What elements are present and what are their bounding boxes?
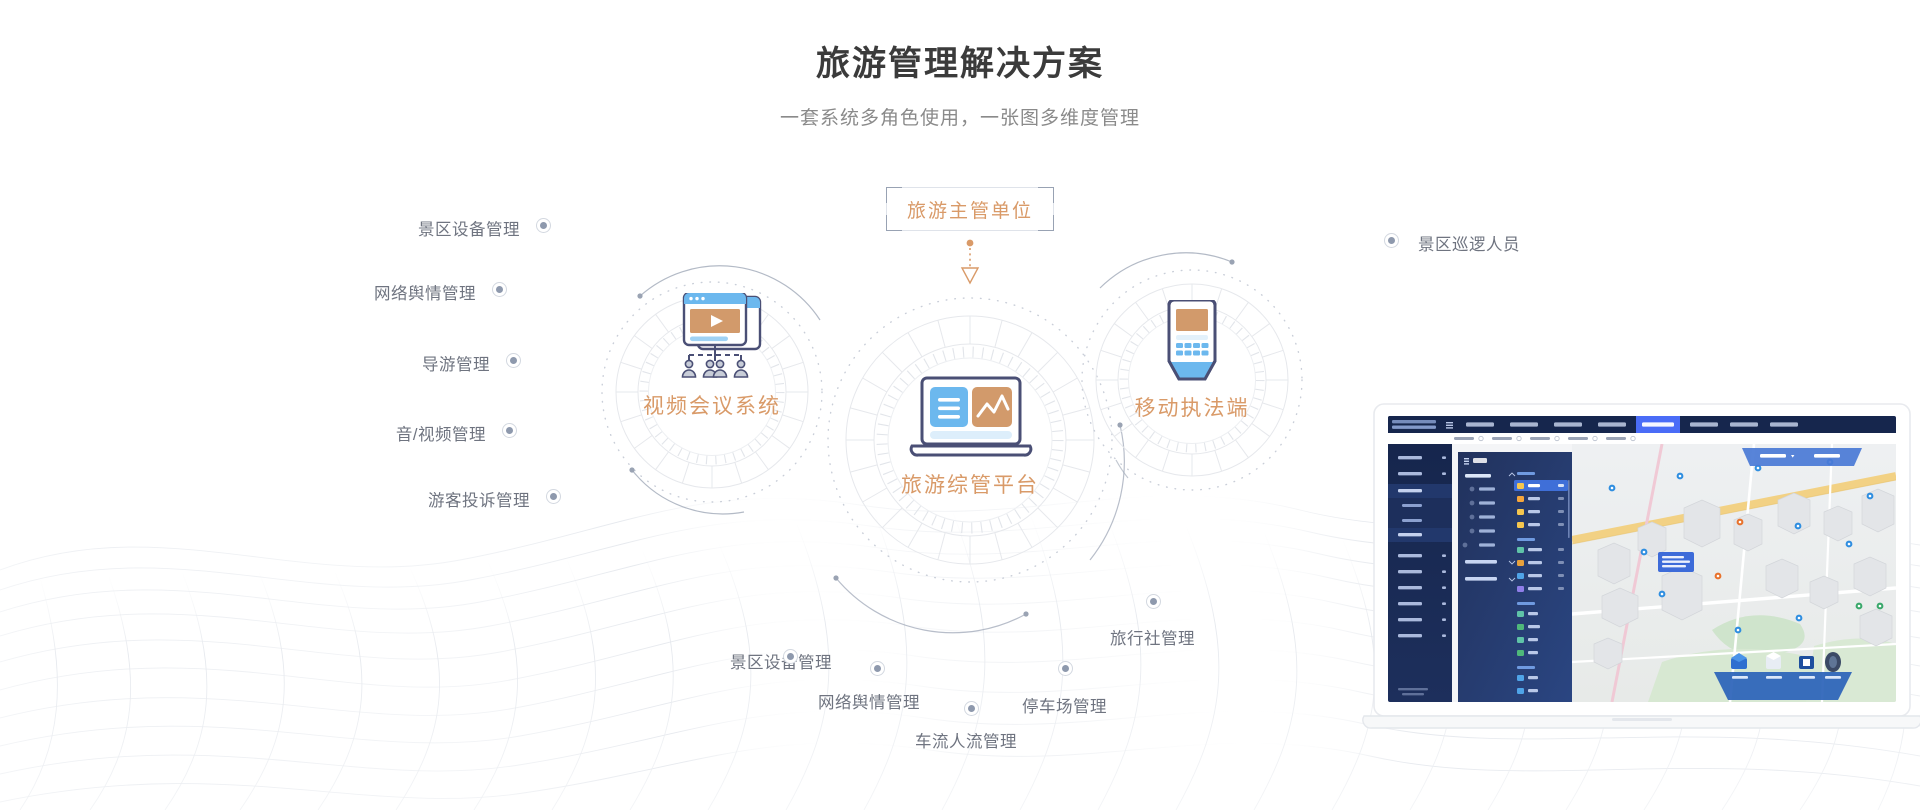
box-corner-bottom-left [886,215,902,231]
left-label-2: 导游管理 [280,351,490,375]
right-dot-0[interactable] [1384,233,1399,248]
authority-connector [962,240,978,283]
left-dot-2[interactable] [506,353,521,368]
bottom-label-3: 停车场管理 [1022,693,1107,717]
left-label-0: 景区设备管理 [310,216,520,240]
bottom-dot-0[interactable] [783,649,798,664]
right-label-0: 景区巡逻人员 [1418,231,1520,255]
bottom-dot-1[interactable] [870,661,885,676]
node-title-video-conference: 视频会议系统 [643,390,781,420]
bottom-label-1: 网络舆情管理 [818,689,920,713]
left-label-4: 游客投诉管理 [320,487,530,511]
bottom-label-4: 旅行社管理 [1110,625,1195,649]
left-dot-4[interactable] [546,489,561,504]
left-leader-lines [508,225,652,496]
authority-label: 旅游主管单位 [907,196,1033,223]
video-window-icon [676,293,772,384]
box-corner-top-left [886,187,902,203]
laptop-dashboard-icon [908,376,1034,473]
solution-infographic: 旅游管理解决方案 一套系统多角色使用，一张图多维度管理 [0,0,1920,810]
bottom-leader-lines [790,520,1153,700]
box-corner-top-right [1038,187,1054,203]
page-title: 旅游管理解决方案 [0,44,1920,85]
authority-box[interactable]: 旅游主管单位 [886,187,1054,231]
left-label-3: 音/视频管理 [276,421,486,445]
page-subtitle: 一套系统多角色使用，一张图多维度管理 [0,103,1920,130]
box-edge-bottom [902,230,1038,231]
node-title-tourism-platform: 旅游综管平台 [901,469,1039,499]
bottom-label-0: 景区设备管理 [730,649,832,673]
node-title-mobile-enforcement: 移动执法端 [1135,392,1250,422]
bottom-dot-2[interactable] [964,701,979,716]
laptop-mockup [1362,400,1920,780]
bottom-dot-4[interactable] [1146,594,1161,609]
box-corner-bottom-right [1038,215,1054,231]
box-edge-left [886,203,887,215]
left-dot-1[interactable] [492,282,507,297]
left-dot-3[interactable] [502,423,517,438]
handheld-terminal-icon [1161,300,1223,393]
box-edge-top [902,187,1038,188]
bottom-dot-3[interactable] [1058,661,1073,676]
box-edge-right [1053,203,1054,215]
left-dot-0[interactable] [536,218,551,233]
left-label-1: 网络舆情管理 [266,280,476,304]
bottom-label-2: 车流人流管理 [915,728,1017,752]
header: 旅游管理解决方案 一套系统多角色使用，一张图多维度管理 [0,0,1920,130]
